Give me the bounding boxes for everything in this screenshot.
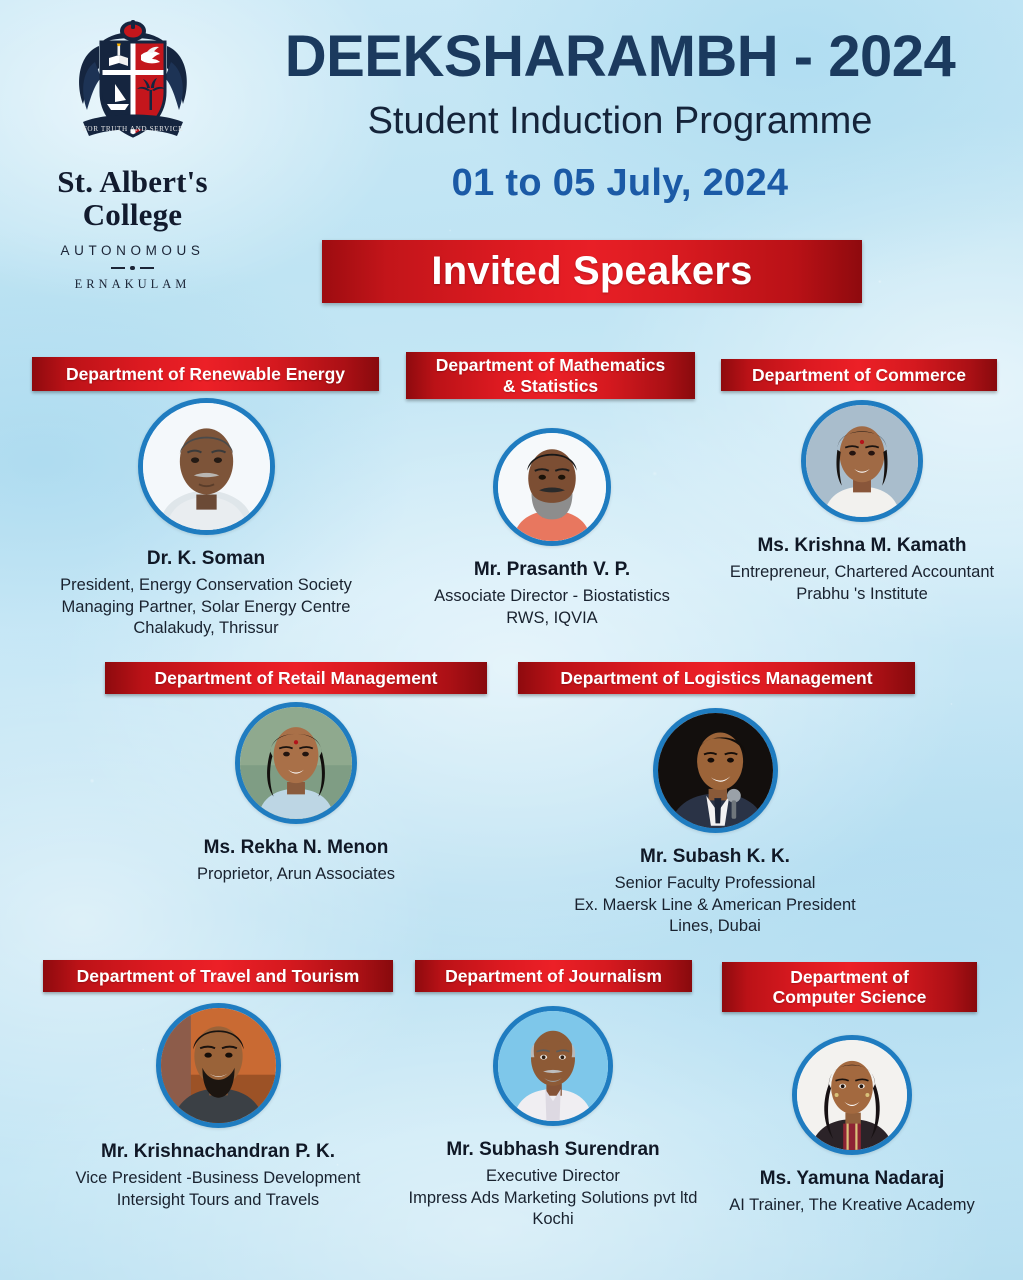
portrait-ms-krishna-m-kamath: [806, 405, 918, 517]
poster-title-block: DEEKSHARAMBH - 2024 Student Induction Pr…: [245, 28, 995, 202]
speaker-card-journalism: Mr. Subhash Surendran Executive Director…: [408, 1006, 698, 1231]
portrait-mr-prasanth-vp: [498, 433, 606, 541]
speaker-name: Mr. Krishnachandran P. K.: [68, 1141, 368, 1163]
speaker-name: Mr. Subhash Surendran: [408, 1139, 698, 1161]
speaker-name: Mr. Prasanth V. P.: [408, 559, 696, 581]
speaker-role: Associate Director - Biostatistics RWS, …: [408, 586, 696, 629]
dept-banner-commerce: Department of Commerce: [721, 359, 997, 391]
logo-divider-ornament: [30, 266, 235, 271]
college-place-label: ERNAKULAM: [30, 277, 235, 292]
portrait-dr-k-soman: [143, 403, 270, 530]
speaker-role: Executive Director Impress Ads Marketing…: [408, 1166, 698, 1230]
speaker-role: AI Trainer, The Kreative Academy: [707, 1195, 997, 1216]
college-logo-block: FOR TRUTH AND SERVICE St. Albert's Colle…: [30, 18, 235, 292]
speaker-role: Vice President -Business Development Int…: [68, 1168, 368, 1211]
speaker-card-renewable-energy: Dr. K. Soman President, Energy Conservat…: [20, 398, 392, 640]
speaker-name: Dr. K. Soman: [20, 548, 392, 570]
portrait-mr-krishnachandran-pk: [161, 1008, 276, 1123]
dept-banner-computer-science: Department of Computer Science: [722, 962, 977, 1012]
dept-banner-renewable-energy: Department of Renewable Energy: [32, 357, 379, 391]
avatar: [653, 708, 778, 833]
speaker-name: Mr. Subash K. K.: [565, 846, 865, 868]
speaker-name: Ms. Rekha N. Menon: [146, 837, 446, 859]
dept-banner-travel-and-tourism: Department of Travel and Tourism: [43, 960, 393, 992]
speaker-card-mathematics-statistics: Mr. Prasanth V. P. Associate Director - …: [408, 428, 696, 629]
dept-banner-journalism: Department of Journalism: [415, 960, 692, 992]
speaker-name: Ms. Yamuna Nadaraj: [707, 1168, 997, 1190]
speaker-role: Entrepreneur, Chartered Accountant Prabh…: [712, 562, 1012, 605]
speaker-card-retail-management: Ms. Rekha N. Menon Proprietor, Arun Asso…: [146, 702, 446, 886]
speaker-role: Proprietor, Arun Associates: [146, 864, 446, 885]
avatar: [801, 400, 923, 522]
speaker-role: President, Energy Conservation Society M…: [20, 575, 392, 639]
dept-banner-logistics-management: Department of Logistics Management: [518, 662, 915, 694]
speaker-card-logistics-management: Mr. Subash K. K. Senior Faculty Professi…: [565, 708, 865, 938]
avatar: [156, 1003, 281, 1128]
college-name: St. Albert's College: [30, 166, 235, 232]
invited-speakers-banner: Invited Speakers: [322, 240, 862, 303]
page-subtitle: Student Induction Programme: [245, 102, 995, 140]
dept-banner-retail-management: Department of Retail Management: [105, 662, 487, 694]
avatar: [138, 398, 275, 535]
speaker-card-commerce: Ms. Krishna M. Kamath Entrepreneur, Char…: [712, 400, 1012, 605]
poster-page: FOR TRUTH AND SERVICE St. Albert's Colle…: [0, 0, 1023, 1280]
svg-text:FOR TRUTH AND SERVICE: FOR TRUTH AND SERVICE: [82, 125, 182, 133]
avatar: [235, 702, 357, 824]
speaker-card-computer-science: Ms. Yamuna Nadaraj AI Trainer, The Kreat…: [707, 1035, 997, 1217]
portrait-mr-subhash-surendran: [498, 1011, 608, 1121]
portrait-mr-subash-kk: [658, 713, 773, 828]
avatar: [792, 1035, 912, 1155]
speaker-name: Ms. Krishna M. Kamath: [712, 535, 1012, 557]
avatar: [493, 1006, 613, 1126]
page-title: DEEKSHARAMBH - 2024: [245, 28, 995, 86]
portrait-ms-yamuna-nadaraj: [797, 1040, 907, 1150]
avatar: [493, 428, 611, 546]
dept-banner-mathematics-statistics: Department of Mathematics & Statistics: [406, 352, 695, 399]
speaker-card-travel-and-tourism: Mr. Krishnachandran P. K. Vice President…: [68, 1003, 368, 1211]
portrait-ms-rekha-n-menon: [240, 707, 352, 819]
event-date: 01 to 05 July, 2024: [245, 164, 995, 202]
speaker-role: Senior Faculty Professional Ex. Maersk L…: [565, 873, 865, 937]
college-autonomous-label: AUTONOMOUS: [30, 243, 235, 258]
college-crest-icon: FOR TRUTH AND SERVICE: [69, 18, 197, 153]
invited-speakers-label: Invited Speakers: [431, 249, 752, 294]
